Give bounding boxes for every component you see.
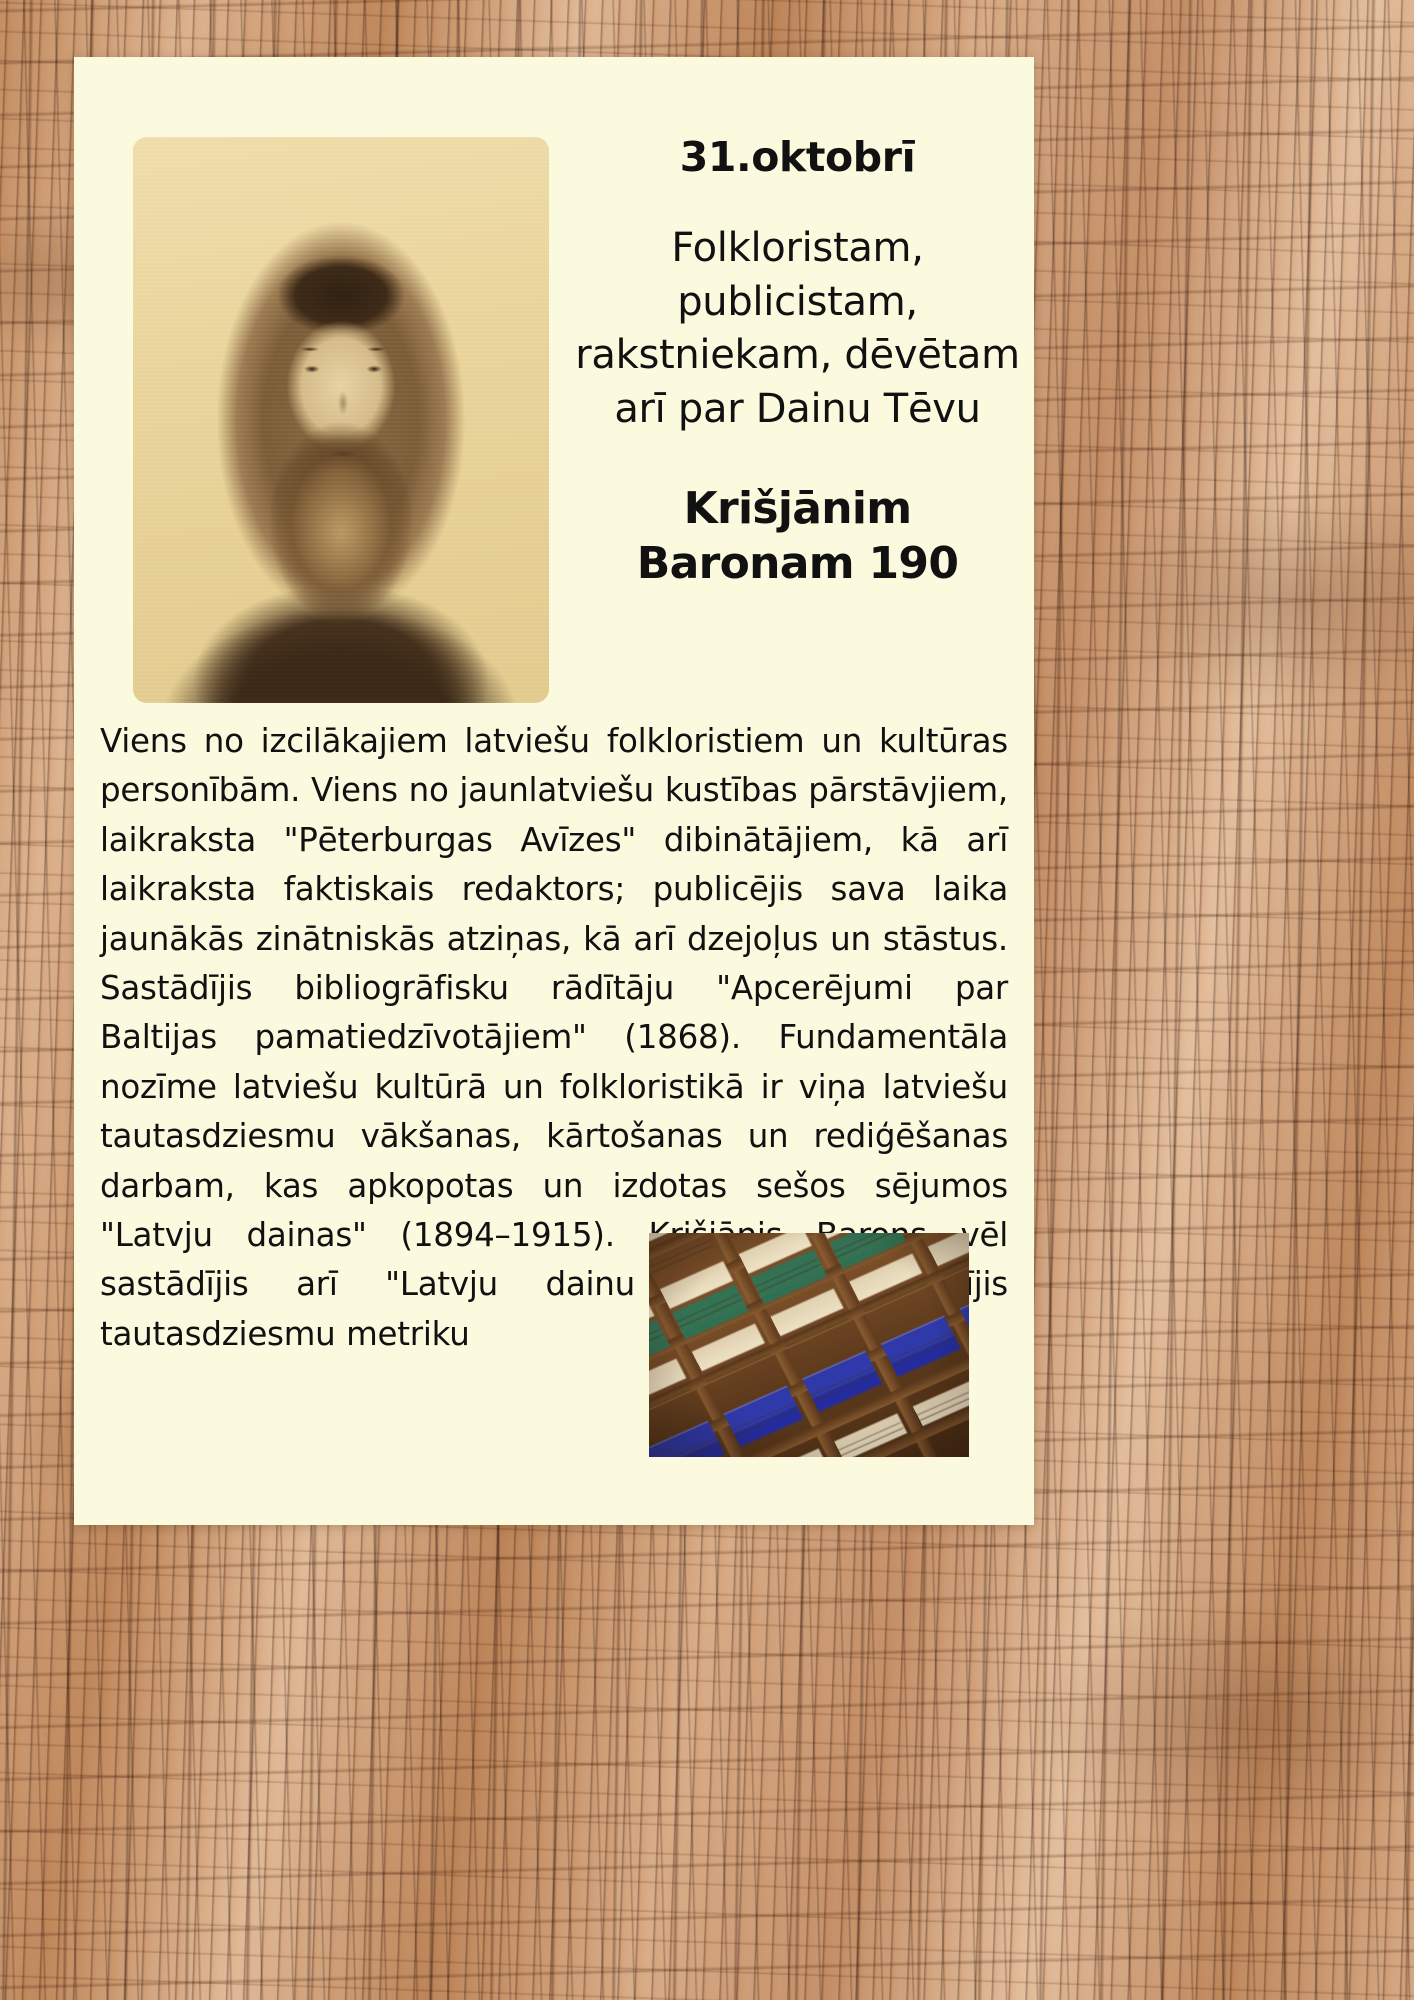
poster-header-section: 31.oktobrī Folkloristam, publicistam, ra… <box>74 57 1034 703</box>
headings-column: 31.oktobrī Folkloristam, publicistam, ra… <box>549 57 1034 591</box>
poster-card: 31.oktobrī Folkloristam, publicistam, ra… <box>74 57 1034 1525</box>
date-heading: 31.oktobrī <box>571 133 1024 182</box>
anniversary-heading: Krišjānim Baronam 190 <box>571 481 1024 592</box>
portrait-photo-krisjanis-barons <box>133 137 549 703</box>
role-description: Folkloristam, publicistam, rakstniekam, … <box>571 222 1024 436</box>
dainu-skapis-photo-frame <box>649 1233 969 1457</box>
portrait-photo-frame <box>133 137 549 703</box>
dainu-skapis-drawer-photo <box>649 1233 969 1457</box>
